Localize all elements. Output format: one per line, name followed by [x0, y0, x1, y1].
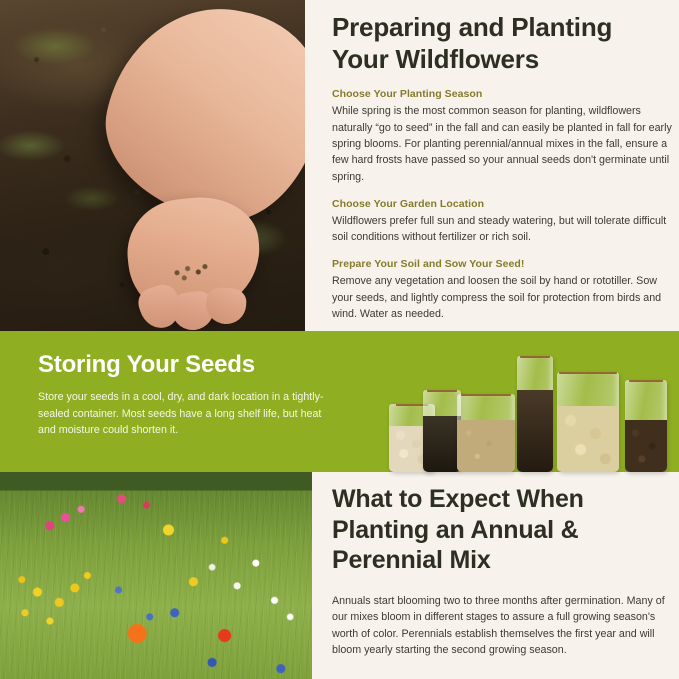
- body-prepare-soil: Remove any vegetation and loosen the soi…: [332, 270, 672, 322]
- bottom-text-column: What to Expect When Planting an Annual &…: [332, 472, 672, 659]
- subheading-prepare-soil: Prepare Your Soil and Sow Your Seed!: [332, 245, 672, 270]
- seed-jar: [625, 380, 667, 472]
- jar-contents: [517, 390, 553, 472]
- cork-lid-icon: [629, 380, 663, 382]
- seed-jar: [517, 356, 553, 472]
- cork-lid-icon: [559, 372, 617, 374]
- jar-contents: [625, 420, 667, 472]
- body-planting-season: While spring is the most common season f…: [332, 100, 672, 184]
- jar-contents: [423, 416, 461, 472]
- green-text-column: Storing Your Seeds Store your seeds in a…: [38, 351, 338, 439]
- what-to-expect-body: Annuals start blooming two to three mont…: [332, 576, 672, 659]
- subheading-garden-location: Choose Your Garden Location: [332, 185, 672, 210]
- jar-contents: [457, 420, 515, 472]
- storing-seeds-title: Storing Your Seeds: [38, 351, 338, 379]
- hand-sowing-seeds-photo: [0, 0, 305, 331]
- jar-contents: [557, 406, 619, 472]
- storing-seeds-body: Store your seeds in a cool, dry, and dar…: [38, 379, 338, 439]
- top-text-column: Preparing and Planting Your Wildflowers …: [332, 0, 672, 331]
- seed-jar: [423, 390, 461, 472]
- seed-jars-photo: [385, 349, 670, 472]
- cork-lid-icon: [427, 390, 457, 392]
- cork-lid-icon: [461, 394, 511, 396]
- what-to-expect-title: What to Expect When Planting an Annual &…: [332, 472, 672, 576]
- infographic-page: Preparing and Planting Your Wildflowers …: [0, 0, 679, 679]
- page-title: Preparing and Planting Your Wildflowers: [332, 0, 672, 75]
- body-garden-location: Wildflowers prefer full sun and steady w…: [332, 210, 672, 246]
- meadow-flowers-layer: [0, 472, 312, 679]
- seed-jar: [557, 372, 619, 472]
- section-preparing-planting: Preparing and Planting Your Wildflowers …: [0, 0, 679, 331]
- cork-lid-icon: [520, 356, 550, 358]
- wildflower-meadow-photo: [0, 472, 312, 679]
- section-storing-seeds: Storing Your Seeds Store your seeds in a…: [0, 331, 679, 472]
- subheading-planting-season: Choose Your Planting Season: [332, 75, 672, 100]
- section-what-to-expect: What to Expect When Planting an Annual &…: [0, 472, 679, 679]
- seed-jar: [457, 394, 515, 472]
